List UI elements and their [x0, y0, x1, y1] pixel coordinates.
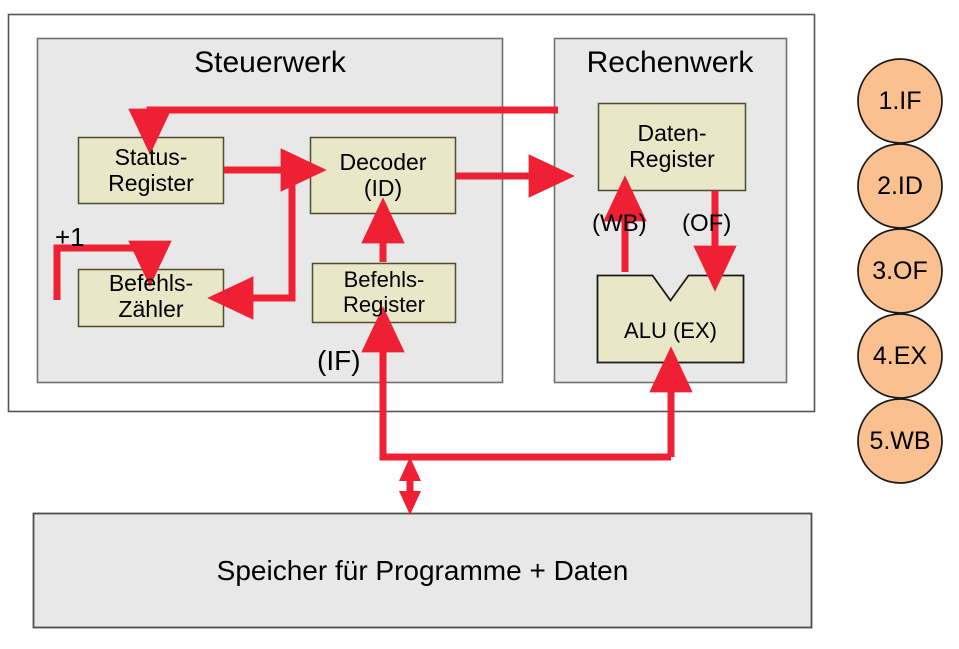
- shapes-layer: [0, 0, 959, 649]
- rechenwerk-title: Rechenwerk: [570, 46, 770, 80]
- cycle-step-circle-4[interactable]: [858, 314, 942, 398]
- speicher-box: [34, 514, 812, 628]
- bus-memory-double-arrow: [399, 457, 421, 515]
- status-register-box: [79, 138, 224, 204]
- cycle-step-circles: [858, 59, 942, 483]
- decoder-box: [311, 138, 456, 214]
- instruction-fetch-annotation: (IF): [317, 345, 361, 377]
- diagram-canvas: Steuerwerk Rechenwerk Status- Register D…: [0, 0, 959, 649]
- cycle-step-circle-3[interactable]: [858, 229, 942, 313]
- operand-fetch-annotation: (OF): [682, 210, 731, 238]
- cycle-step-circle-5[interactable]: [858, 399, 942, 483]
- daten-register-box: [599, 104, 746, 191]
- increment-annotation: +1: [55, 222, 85, 253]
- write-back-annotation: (WB): [592, 210, 647, 238]
- befehls-register-box: [313, 264, 456, 323]
- cycle-step-circle-1[interactable]: [858, 59, 942, 143]
- steuerwerk-title: Steuerwerk: [170, 46, 370, 80]
- cycle-step-circle-2[interactable]: [858, 144, 942, 228]
- befehls-zaehler-box: [79, 270, 224, 327]
